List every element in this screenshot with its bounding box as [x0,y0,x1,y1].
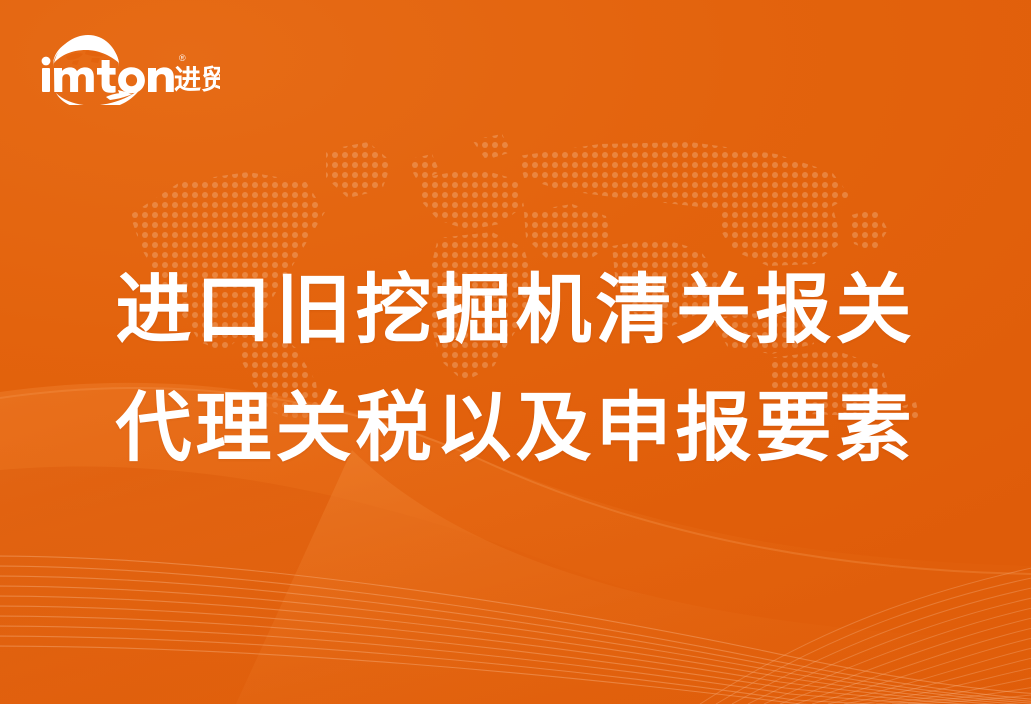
banner-canvas: 进贸通 ® 进口旧挖掘机清关报关 代理关税以及申报要素 [0,0,1031,704]
logo-wordmark [42,57,174,94]
page-title-line-1: 进口旧挖掘机清关报关 [0,252,1031,370]
imton-logo[interactable]: 进贸通 ® [40,27,220,105]
registered-trademark-symbol: ® [179,53,186,63]
page-title-line-2: 代理关税以及申报要素 [0,370,1031,488]
page-title: 进口旧挖掘机清关报关 代理关税以及申报要素 [0,252,1031,488]
logo-chinese-name: 进贸通 [174,65,220,96]
